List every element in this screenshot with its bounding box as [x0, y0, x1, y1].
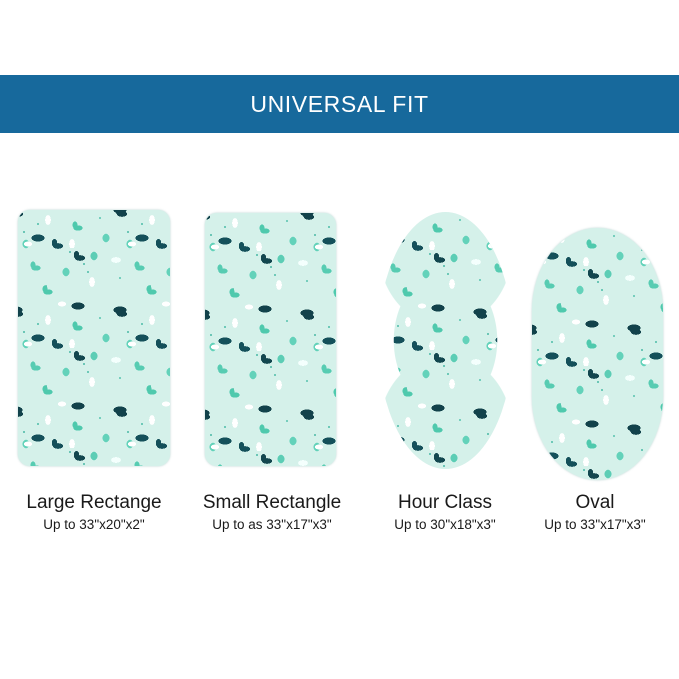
caption-hourglass: Hour Class Up to 30"x18"x3": [359, 492, 531, 534]
product-name-large-rectangle: Large Rectange: [4, 492, 184, 514]
mattress-small-rectangle-icon: [205, 213, 336, 466]
product-hourglass: [378, 212, 513, 469]
product-size-small-rectangle: Up to as 33"x17"x3": [182, 516, 362, 534]
banner-title: UNIVERSAL FIT: [250, 93, 428, 116]
universal-fit-banner: UNIVERSAL FIT: [0, 75, 679, 133]
product-size-large-rectangle: Up to 33"x20"x2": [4, 516, 184, 534]
product-size-oval: Up to 33"x17"x3": [511, 516, 679, 534]
caption-small-rectangle: Small Rectangle Up to as 33"x17"x3": [182, 492, 362, 534]
mattress-large-rectangle-icon: [18, 210, 170, 466]
caption-large-rectangle: Large Rectange Up to 33"x20"x2": [4, 492, 184, 534]
mattress-hourglass-icon: [378, 212, 513, 469]
product-size-hourglass: Up to 30"x18"x3": [359, 516, 531, 534]
product-large-rectangle: [18, 210, 170, 466]
product-name-hourglass: Hour Class: [359, 492, 531, 514]
mattress-oval-icon: [532, 228, 663, 480]
product-oval: [532, 228, 663, 480]
product-name-oval: Oval: [511, 492, 679, 514]
product-name-small-rectangle: Small Rectangle: [182, 492, 362, 514]
product-small-rectangle: [205, 213, 336, 466]
caption-oval: Oval Up to 33"x17"x3": [511, 492, 679, 534]
